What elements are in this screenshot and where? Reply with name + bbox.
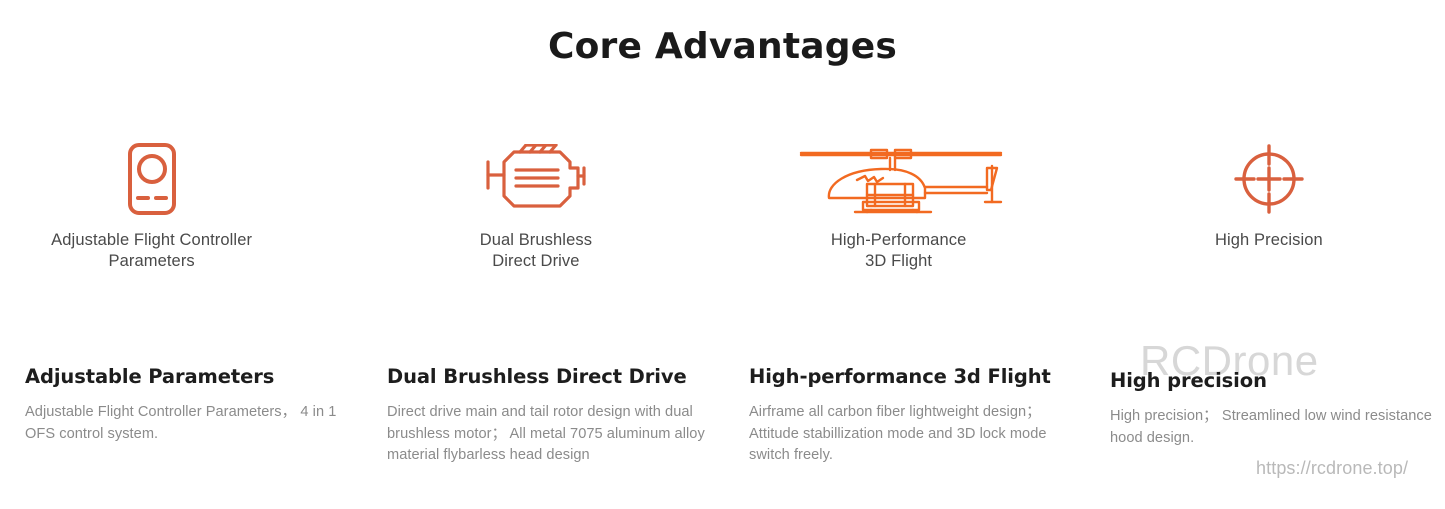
helicopter-icon	[789, 140, 1019, 218]
icon-cell-flight-controller: Adjustable Flight Controller Parameters	[0, 140, 361, 285]
feature-body: High precision； Streamlined low wind res…	[1110, 406, 1440, 449]
feature-heading: High precision	[1110, 369, 1440, 392]
feature-body: Adjustable Flight Controller Parameters，…	[25, 402, 355, 445]
icon-caption-helicopter: High-Performance 3D Flight	[831, 230, 967, 272]
feature-high-performance-3d-flight: High-performance 3d Flight Airframe all …	[749, 365, 1069, 467]
icon-caption-flight-controller: Adjustable Flight Controller Parameters	[51, 230, 252, 272]
brushless-motor-icon	[474, 140, 598, 218]
feature-heading: Dual Brushless Direct Drive	[387, 365, 717, 388]
feature-adjustable-parameters: Adjustable Parameters Adjustable Flight …	[25, 365, 355, 445]
icon-caption-line-1: High Precision	[1215, 230, 1323, 251]
feature-row: Adjustable Parameters Adjustable Flight …	[0, 365, 1445, 495]
icon-caption-line-2: Direct Drive	[480, 251, 592, 272]
icon-caption-line-1: Adjustable Flight Controller	[51, 230, 252, 251]
icon-caption-line-1: High-Performance	[831, 230, 967, 251]
icon-cell-brushless-motor: Dual Brushless Direct Drive	[361, 140, 722, 285]
feature-body: Direct drive main and tail rotor design …	[387, 402, 717, 467]
icon-caption-brushless-motor: Dual Brushless Direct Drive	[480, 230, 592, 272]
feature-body: Airframe all carbon fiber lightweight de…	[749, 402, 1069, 467]
flight-controller-icon	[120, 140, 184, 218]
icon-caption-high-precision: High Precision	[1215, 230, 1323, 251]
icon-caption-line-2: 3D Flight	[831, 251, 967, 272]
icon-row: Adjustable Flight Controller Parameters	[0, 140, 1445, 285]
icon-caption-line-1: Dual Brushless	[480, 230, 592, 251]
feature-heading: High-performance 3d Flight	[749, 365, 1069, 388]
icon-cell-helicopter: High-Performance 3D Flight	[723, 140, 1084, 285]
icon-caption-line-2: Parameters	[51, 251, 252, 272]
icon-cell-high-precision: High Precision	[1084, 140, 1445, 285]
feature-high-precision: High precision High precision； Streamlin…	[1110, 369, 1440, 449]
page-title: Core Advantages	[0, 26, 1445, 67]
feature-dual-brushless-direct-drive: Dual Brushless Direct Drive Direct drive…	[387, 365, 717, 467]
crosshair-target-icon	[1232, 140, 1306, 218]
feature-heading: Adjustable Parameters	[25, 365, 355, 388]
